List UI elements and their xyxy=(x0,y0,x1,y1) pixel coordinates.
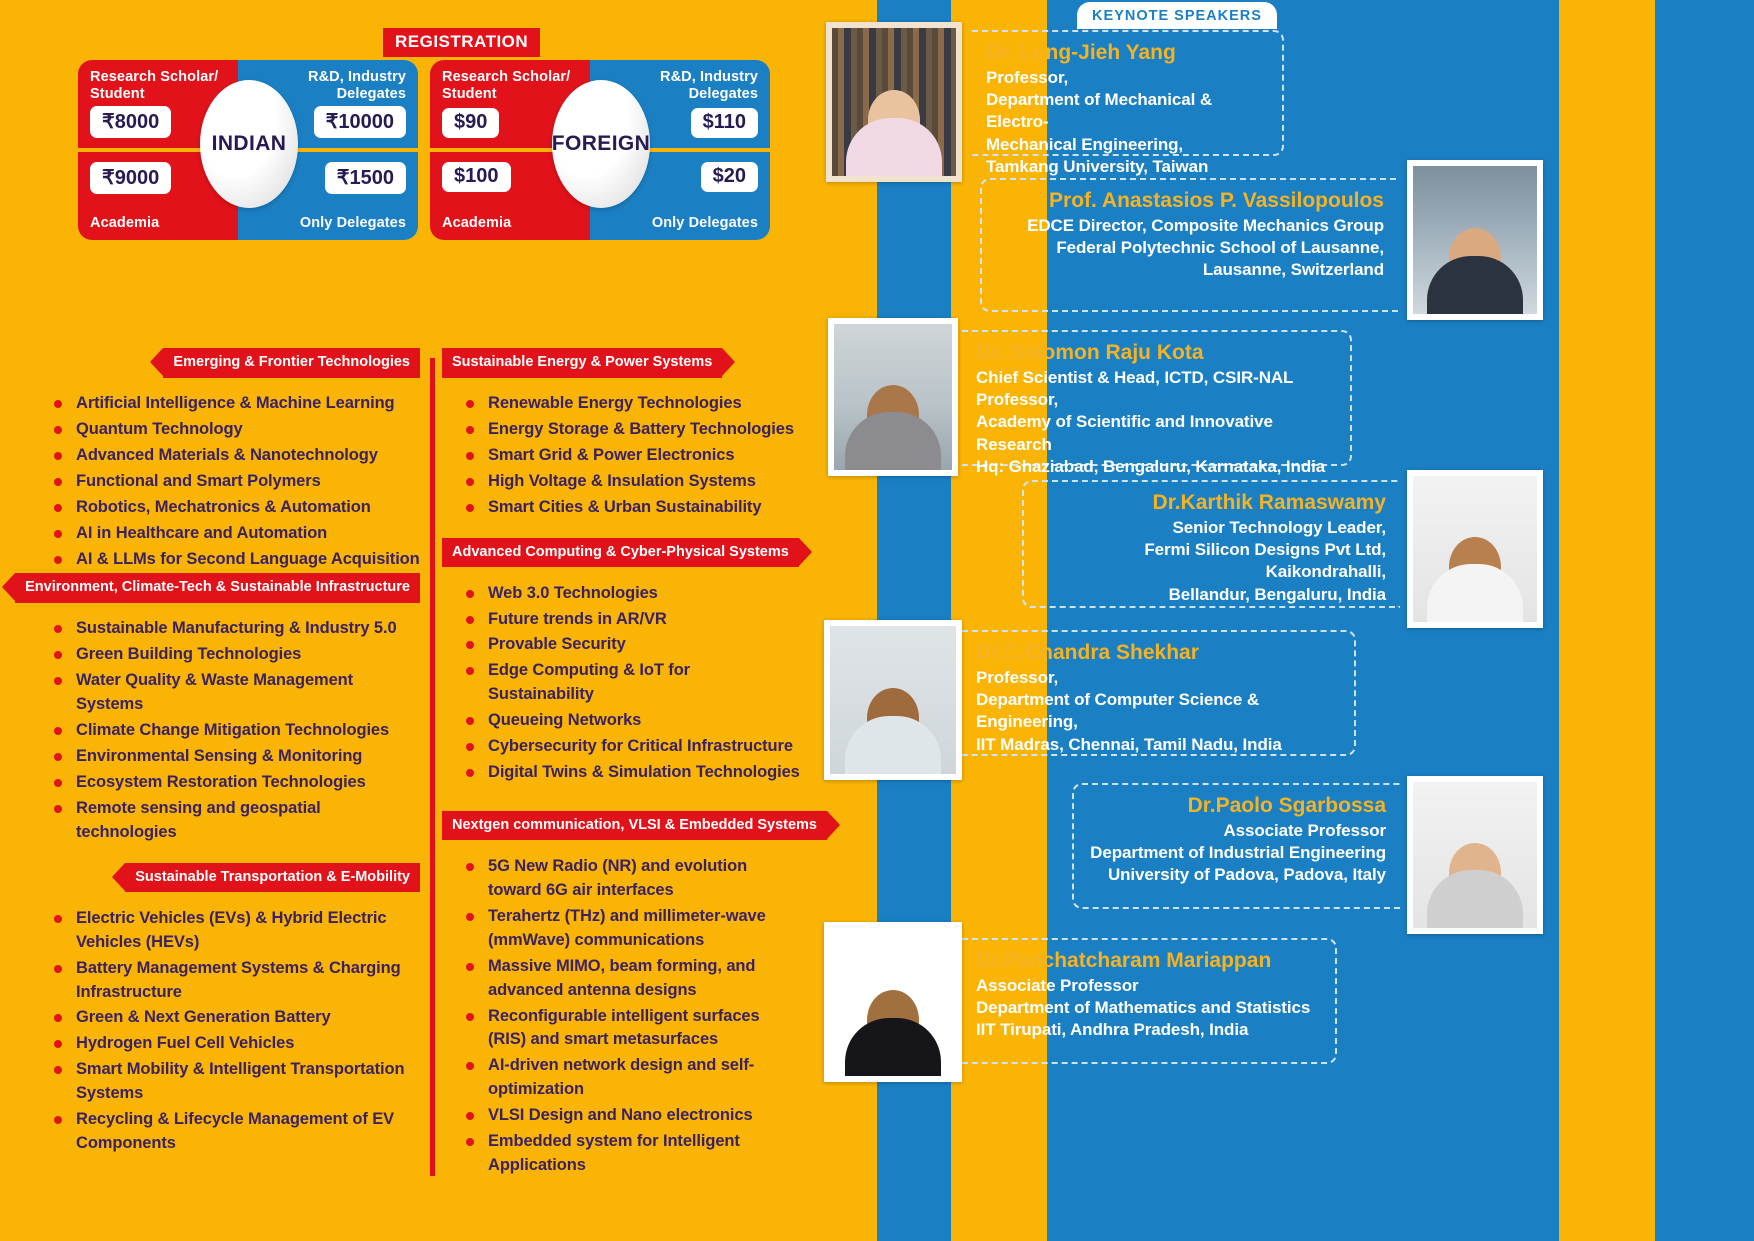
topic-header-row: Sustainable Energy & Power Systems xyxy=(442,348,800,378)
reg-cell-label: Only Delegates xyxy=(300,215,406,232)
speaker-detail: Professor, xyxy=(976,389,1336,411)
speaker-detail: Department of Computer Science & Enginee… xyxy=(976,689,1340,733)
topic-header-energy: Sustainable Energy & Power Systems xyxy=(442,348,722,378)
speaker-detail: Department of Industrial Engineering xyxy=(1088,842,1386,864)
brochure-page: REGISTRATION Research Scholar/Student ₹8… xyxy=(0,0,1754,1241)
list-item: Functional and Smart Polymers xyxy=(50,470,420,494)
reg-cell-amount: $100 xyxy=(442,162,511,192)
speaker-card-3: Dr. Solomon Raju Kota Chief Scientist & … xyxy=(962,330,1352,466)
list-item: Smart Mobility & Intelligent Transportat… xyxy=(50,1058,420,1106)
registration-badge-foreign: FOREIGN xyxy=(552,80,650,208)
reg-cell-label: R&D, IndustryDelegates xyxy=(308,69,406,102)
speaker-detail: Lausanne, Switzerland xyxy=(996,259,1384,281)
reg-cell-amount: ₹1500 xyxy=(325,162,406,194)
topic-list-nextgen: 5G New Radio (NR) and evolution toward 6… xyxy=(442,855,800,1178)
topic-list-energy: Renewable Energy Technologies Energy Sto… xyxy=(442,392,800,520)
list-item: Artificial Intelligence & Machine Learni… xyxy=(50,392,420,416)
speaker-photo-5 xyxy=(824,620,962,780)
reg-cell-amount: $20 xyxy=(701,162,758,192)
speaker-photo-6 xyxy=(1407,776,1543,934)
list-item: Embedded system for Intelligent Applicat… xyxy=(462,1130,800,1178)
list-item: Remote sensing and geospatial technologi… xyxy=(50,797,420,845)
speaker-photo-image xyxy=(832,28,956,176)
speaker-card-2: Prof. Anastasios P. Vassilopoulos EDCE D… xyxy=(980,178,1398,312)
topic-header-environment: Environment, Climate-Tech & Sustainable … xyxy=(15,573,420,603)
topic-header-row: Sustainable Transportation & E-Mobility xyxy=(30,863,420,893)
topic-header-transportation: Sustainable Transportation & E-Mobility xyxy=(125,863,420,893)
list-item: Provable Security xyxy=(462,633,800,657)
topics-divider xyxy=(430,358,435,1176)
registration-group-indian: Research Scholar/Student ₹8000 R&D, Indu… xyxy=(78,60,418,250)
list-item: 5G New Radio (NR) and evolution toward 6… xyxy=(462,855,800,903)
speaker-detail: Fermi Silicon Designs Pvt Ltd, Kaikondra… xyxy=(1038,539,1386,583)
topic-header-nextgen: Nextgen communication, VLSI & Embedded S… xyxy=(442,811,827,841)
list-item: Green Building Technologies xyxy=(50,643,420,667)
speaker-detail: Department of Mathematics and Statistics xyxy=(976,997,1321,1019)
speaker-detail: Bellandur, Bengaluru, India xyxy=(1038,584,1386,606)
speaker-name: Dr.Panchatcharam Mariappan xyxy=(976,948,1321,974)
reg-cell-label: Academia xyxy=(442,215,511,232)
speaker-name: Dr. Solomon Raju Kota xyxy=(976,340,1336,366)
list-item: Energy Storage & Battery Technologies xyxy=(462,418,800,442)
speaker-photo-2 xyxy=(1407,160,1543,320)
speaker-name: Dr. Lung-Jieh Yang xyxy=(986,40,1268,66)
speaker-card-6: Dr.Paolo Sgarbossa Associate Professor D… xyxy=(1072,783,1400,909)
list-item: Recycling & Lifecycle Management of EV C… xyxy=(50,1108,420,1156)
speaker-photo-1 xyxy=(826,22,962,182)
speaker-name: Dr.C.Chandra Shekhar xyxy=(976,640,1340,666)
list-item: High Voltage & Insulation Systems xyxy=(462,470,800,494)
speaker-detail: Mechanical Engineering, xyxy=(986,134,1268,156)
speaker-detail: Senior Technology Leader, xyxy=(1038,517,1386,539)
topic-list-transportation: Electric Vehicles (EVs) & Hybrid Electri… xyxy=(30,907,420,1156)
list-item: Water Quality & Waste Management Systems xyxy=(50,669,420,717)
speaker-photo-7 xyxy=(824,922,962,1082)
speaker-detail: Hq: Ghaziabad, Bengaluru, Karnataka, Ind… xyxy=(976,456,1336,478)
reg-cell-label: Research Scholar/Student xyxy=(90,69,218,102)
speaker-photo-image xyxy=(830,928,956,1076)
topic-header-emerging: Emerging & Frontier Technologies xyxy=(163,348,420,378)
list-item: Edge Computing & IoT for Sustainability xyxy=(462,659,800,707)
keynote-speakers-badge: KEYNOTE SPEAKERS xyxy=(1077,2,1277,29)
list-item: AI-driven network design and self-optimi… xyxy=(462,1054,800,1102)
topic-header-computing: Advanced Computing & Cyber-Physical Syst… xyxy=(442,538,799,568)
speaker-detail: Associate Professor xyxy=(976,975,1321,997)
speaker-photo-image xyxy=(1413,782,1537,928)
list-item: Electric Vehicles (EVs) & Hybrid Electri… xyxy=(50,907,420,955)
list-item: Massive MIMO, beam forming, and advanced… xyxy=(462,955,800,1003)
yellow-stripe-2 xyxy=(1559,0,1655,1241)
topic-header-row: Emerging & Frontier Technologies xyxy=(30,348,420,378)
topics-right-column: Sustainable Energy & Power Systems Renew… xyxy=(442,348,800,1180)
list-item: VLSI Design and Nano electronics xyxy=(462,1104,800,1128)
list-item: Green & Next Generation Battery xyxy=(50,1006,420,1030)
speaker-photo-image xyxy=(1413,166,1537,314)
speaker-photo-image xyxy=(834,324,952,470)
registration-badge-indian: INDIAN xyxy=(200,80,298,208)
speaker-detail: Chief Scientist & Head, ICTD, CSIR-NAL xyxy=(976,367,1336,389)
reg-cell-amount: ₹9000 xyxy=(90,162,171,194)
speaker-detail: Professor, xyxy=(986,67,1268,89)
list-item: Renewable Energy Technologies xyxy=(462,392,800,416)
topic-header-row: Environment, Climate-Tech & Sustainable … xyxy=(30,573,420,603)
speaker-photo-4 xyxy=(1407,470,1543,628)
list-item: Ecosystem Restoration Technologies xyxy=(50,771,420,795)
speaker-photo-image xyxy=(830,626,956,774)
reg-cell-label: Academia xyxy=(90,215,159,232)
topics-left-column: Emerging & Frontier Technologies Artific… xyxy=(30,348,420,1158)
list-item: Environmental Sensing & Monitoring xyxy=(50,745,420,769)
reg-cell-amount: ₹10000 xyxy=(314,106,406,138)
speaker-card-1: Dr. Lung-Jieh Yang Professor, Department… xyxy=(972,30,1284,156)
speaker-detail: University of Padova, Padova, Italy xyxy=(1088,864,1386,886)
registration-title: REGISTRATION xyxy=(383,28,540,57)
reg-cell-label: R&D, IndustryDelegates xyxy=(660,69,758,102)
reg-cell-label: Research Scholar/Student xyxy=(442,69,570,102)
reg-cell-amount: ₹8000 xyxy=(90,106,171,138)
list-item: AI in Healthcare and Automation xyxy=(50,522,420,546)
list-item: Climate Change Mitigation Technologies xyxy=(50,719,420,743)
speaker-detail: Professor, xyxy=(976,667,1340,689)
list-item: Advanced Materials & Nanotechnology xyxy=(50,444,420,468)
speaker-detail: Associate Professor xyxy=(1088,820,1386,842)
list-item: Smart Cities & Urban Sustainability xyxy=(462,496,800,520)
list-item: Web 3.0 Technologies xyxy=(462,582,800,606)
topic-list-emerging: Artificial Intelligence & Machine Learni… xyxy=(30,392,420,571)
topic-header-row: Advanced Computing & Cyber-Physical Syst… xyxy=(442,538,800,568)
list-item: Robotics, Mechatronics & Automation xyxy=(50,496,420,520)
list-item: Smart Grid & Power Electronics xyxy=(462,444,800,468)
speaker-detail: Academy of Scientific and Innovative Res… xyxy=(976,411,1336,455)
speaker-detail: Federal Polytechnic School of Lausanne, xyxy=(996,237,1384,259)
list-item: AI & LLMs for Second Language Acquisitio… xyxy=(50,548,420,572)
topic-header-row: Nextgen communication, VLSI & Embedded S… xyxy=(442,811,800,841)
topic-list-computing: Web 3.0 Technologies Future trends in AR… xyxy=(442,582,800,785)
list-item: Hydrogen Fuel Cell Vehicles xyxy=(50,1032,420,1056)
registration-group-foreign: Research Scholar/Student $90 R&D, Indust… xyxy=(430,60,770,250)
speaker-name: Dr.Paolo Sgarbossa xyxy=(1088,793,1386,819)
speaker-detail: IIT Madras, Chennai, Tamil Nadu, India xyxy=(976,734,1340,756)
speaker-card-7: Dr.Panchatcharam Mariappan Associate Pro… xyxy=(962,938,1337,1064)
list-item: Terahertz (THz) and millimeter-wave (mmW… xyxy=(462,905,800,953)
list-item: Cybersecurity for Critical Infrastructur… xyxy=(462,735,800,759)
speaker-name: Prof. Anastasios P. Vassilopoulos xyxy=(996,188,1384,214)
list-item: Future trends in AR/VR xyxy=(462,608,800,632)
speaker-detail: IIT Tirupati, Andhra Pradesh, India xyxy=(976,1019,1321,1041)
speaker-detail: Tamkang University, Taiwan xyxy=(986,156,1268,178)
list-item: Digital Twins & Simulation Technologies xyxy=(462,761,800,785)
speaker-card-5: Dr.C.Chandra Shekhar Professor, Departme… xyxy=(962,630,1356,756)
list-item: Reconfigurable intelligent surfaces (RIS… xyxy=(462,1005,800,1053)
topic-list-environment: Sustainable Manufacturing & Industry 5.0… xyxy=(30,617,420,844)
speaker-detail: EDCE Director, Composite Mechanics Group xyxy=(996,215,1384,237)
speaker-photo-image xyxy=(1413,476,1537,622)
reg-cell-label: Only Delegates xyxy=(652,215,758,232)
speaker-photo-3 xyxy=(828,318,958,476)
list-item: Battery Management Systems & Charging In… xyxy=(50,957,420,1005)
list-item: Sustainable Manufacturing & Industry 5.0 xyxy=(50,617,420,641)
speaker-detail: Department of Mechanical & Electro- xyxy=(986,89,1268,133)
list-item: Queueing Networks xyxy=(462,709,800,733)
speaker-card-4: Dr.Karthik Ramaswamy Senior Technology L… xyxy=(1022,480,1400,608)
reg-cell-amount: $110 xyxy=(691,108,758,138)
reg-cell-amount: $90 xyxy=(442,108,499,138)
list-item: Quantum Technology xyxy=(50,418,420,442)
speaker-name: Dr.Karthik Ramaswamy xyxy=(1038,490,1386,516)
